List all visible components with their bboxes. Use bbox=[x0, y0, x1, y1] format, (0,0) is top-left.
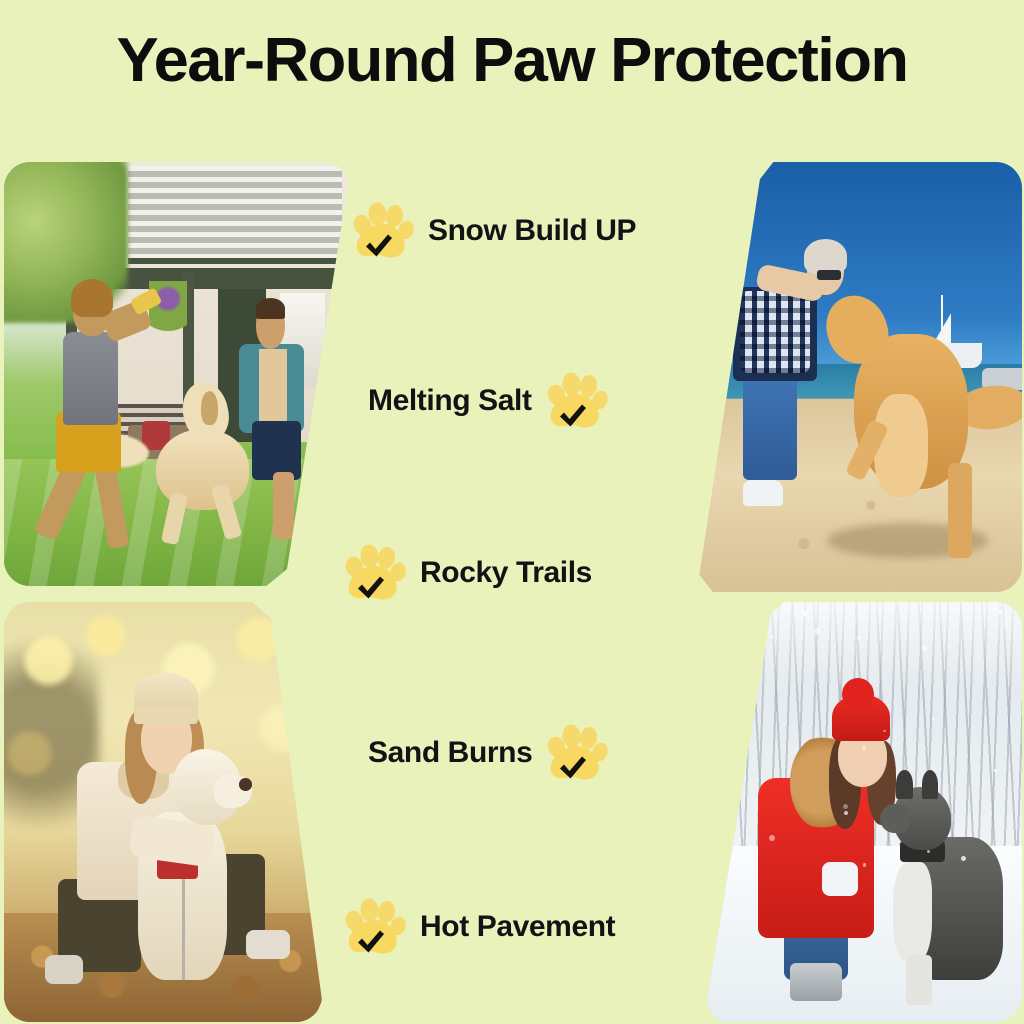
page-title: Year-Round Paw Protection bbox=[0, 28, 1024, 93]
paw-check-icon bbox=[352, 201, 414, 261]
scene-beach bbox=[686, 162, 1022, 592]
feature-label: Rocky Trails bbox=[420, 556, 592, 590]
scene-backyard bbox=[4, 162, 349, 586]
feature-item-melting-salt[interactable]: Melting Salt bbox=[368, 371, 608, 431]
paw-check-icon bbox=[344, 897, 406, 957]
photo-snow-walk bbox=[700, 602, 1022, 1022]
feature-label: Sand Burns bbox=[368, 736, 532, 770]
paw-check-icon bbox=[344, 543, 406, 603]
photo-backyard-play bbox=[4, 162, 349, 586]
paw-check-icon bbox=[546, 371, 608, 431]
feature-item-snow-build-up[interactable]: Snow Build UP bbox=[352, 201, 636, 261]
feature-item-hot-pavement[interactable]: Hot Pavement bbox=[344, 897, 615, 957]
feature-item-rocky-trails[interactable]: Rocky Trails bbox=[344, 543, 592, 603]
photo-autumn-hug bbox=[4, 602, 322, 1022]
feature-label: Hot Pavement bbox=[420, 910, 615, 944]
scene-autumn bbox=[4, 602, 322, 1022]
scene-snow bbox=[700, 602, 1022, 1022]
feature-label: Snow Build UP bbox=[428, 214, 636, 248]
photo-beach-jump bbox=[686, 162, 1022, 592]
feature-item-sand-burns[interactable]: Sand Burns bbox=[368, 723, 608, 783]
infographic-page: Year-Round Paw Protection bbox=[0, 0, 1024, 1024]
feature-list: Snow Build UP Melting Salt bbox=[330, 175, 694, 995]
paw-check-icon bbox=[546, 723, 608, 783]
feature-label: Melting Salt bbox=[368, 384, 532, 418]
